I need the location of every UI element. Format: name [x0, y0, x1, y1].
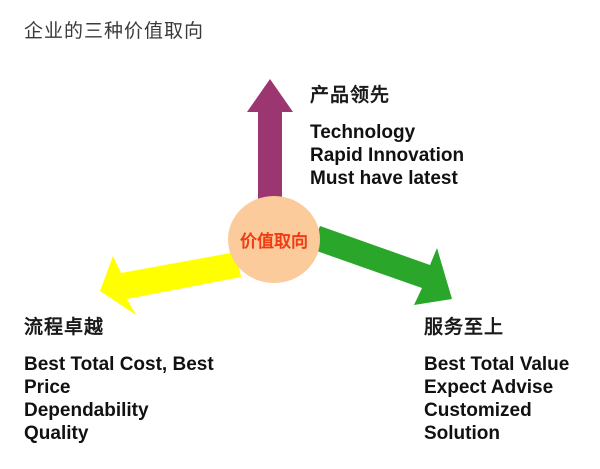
branch-top-heading: 产品领先 [310, 80, 540, 107]
branch-top-line-2: Rapid Innovation [310, 144, 540, 167]
down-left-arrow [100, 252, 241, 315]
down-right-arrow [311, 226, 452, 305]
branch-right-heading: 服务至上 [424, 312, 594, 339]
branch-top-line-1: Technology [310, 121, 540, 144]
branch-right-lines: Best Total Value Expect Advise Customize… [424, 353, 594, 445]
branch-right-line-3: Customized [424, 399, 594, 422]
branch-block-top: 产品领先 Technology Rapid Innovation Must ha… [310, 80, 540, 190]
branch-top-lines: Technology Rapid Innovation Must have la… [310, 121, 540, 190]
diagram-canvas: 企业的三种价值取向 价值取向 产品领先 Technology Rapid Inn… [0, 0, 600, 469]
branch-left-heading: 流程卓越 [24, 312, 254, 339]
center-circle-label: 价值取向 [240, 233, 308, 250]
branch-left-lines: Best Total Cost, Best Price Dependabilit… [24, 353, 254, 445]
branch-right-line-4: Solution [424, 422, 594, 445]
branch-right-line-1: Best Total Value [424, 353, 594, 376]
center-circle: 价值取向 [228, 196, 320, 283]
branch-block-left: 流程卓越 Best Total Cost, Best Price Dependa… [24, 312, 254, 445]
branch-left-line-1: Best Total Cost, Best [24, 353, 254, 376]
branch-top-line-3: Must have latest [310, 167, 540, 190]
branch-block-right: 服务至上 Best Total Value Expect Advise Cust… [424, 312, 594, 445]
branch-left-line-4: Quality [24, 422, 254, 445]
branch-left-line-3: Dependability [24, 399, 254, 422]
branch-right-line-2: Expect Advise [424, 376, 594, 399]
branch-left-line-2: Price [24, 376, 254, 399]
